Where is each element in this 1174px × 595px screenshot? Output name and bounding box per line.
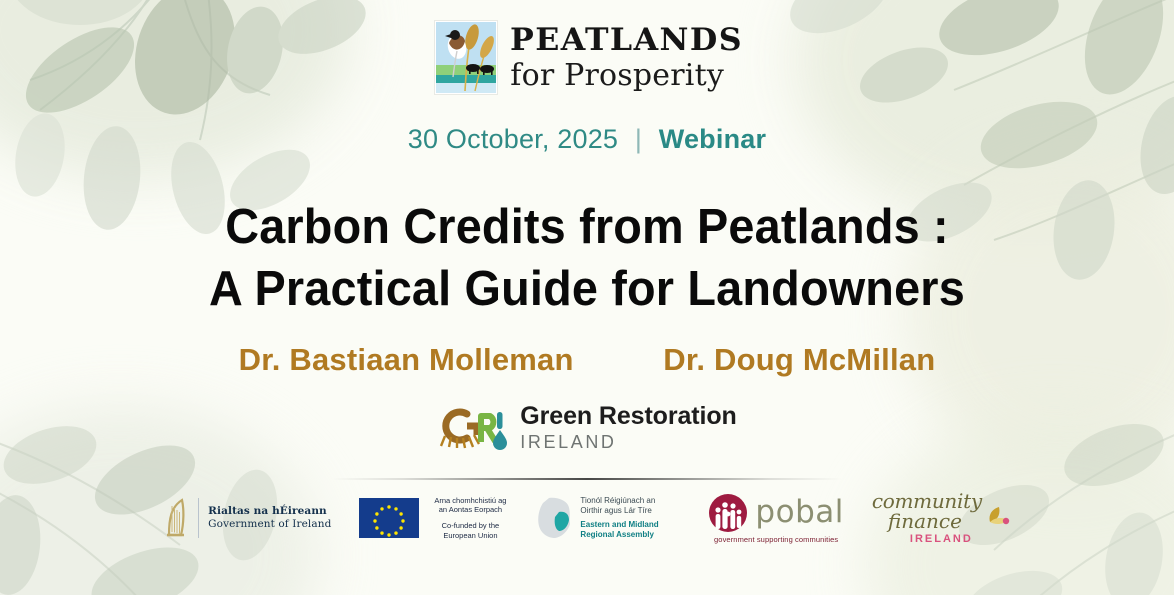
cfi-country: IRELAND (910, 533, 973, 545)
eu-english-line-2: European Union (443, 531, 497, 540)
organiser-country: IRELAND (520, 433, 736, 451)
page-title: Carbon Credits from Peatlands : A Practi… (0, 197, 1174, 320)
pobal-people-icon (708, 493, 748, 533)
eu-irish-line-2: an Aontas Eorpach (439, 505, 502, 514)
section-divider (332, 478, 842, 480)
emra-english-line-2: Regional Assembly (580, 530, 654, 539)
event-dateline: 30 October, 2025 | Webinar (0, 124, 1174, 155)
eu-flag-icon (359, 498, 419, 538)
peatlands-bird-reeds-logo (435, 21, 497, 94)
gov-divider (198, 498, 199, 538)
title-line-1: Carbon Credits from Peatlands : (26, 197, 1147, 259)
webinar-title-slide: PEATLANDS for Prosperity 30 October, 202… (0, 0, 1174, 595)
title-line-2: A Practical Guide for Landowners (26, 259, 1147, 321)
event-date: 30 October, 2025 (408, 124, 618, 154)
cfi-word-community: community (872, 492, 982, 511)
eu-english: Co-funded by the European Union (427, 521, 513, 541)
gov-wordmark: Rialtas na hÉireann Government of Irelan… (208, 505, 331, 530)
organiser-wordmark: Green Restoration IRELAND (520, 404, 736, 451)
funder-government-of-ireland: Rialtas na hÉireann Government of Irelan… (163, 488, 345, 548)
eu-wordmark: Arna chomhchistiú ag an Aontas Eorpach C… (427, 496, 513, 541)
funder-pobal: pobal government supporting communities (696, 488, 857, 548)
emra-irish-line-1: Tionól Réigiúnach an (580, 496, 655, 505)
emra-english-line-1: Eastern and Midland (580, 520, 658, 529)
pobal-lockup: pobal (708, 493, 843, 533)
gri-monogram-logo (437, 402, 509, 452)
funder-logo-row: Rialtas na hÉireann Government of Irelan… (0, 487, 1174, 549)
speaker-list: Dr. Bastiaan Molleman Dr. Doug McMillan (0, 342, 1174, 378)
ireland-map-icon (535, 495, 575, 541)
eu-irish: Arna chomhchistiú ag an Aontas Eorpach (427, 496, 513, 516)
organiser-logo: Green Restoration IRELAND (0, 402, 1174, 452)
peatlands-wordmark: PEATLANDS for Prosperity (510, 25, 738, 91)
gov-irish-name: Rialtas na hÉireann (208, 505, 331, 518)
emra-irish: Tionól Réigiúnach an Oirthir agus Lár Tí… (580, 496, 684, 516)
cfi-wordmark: community finance (872, 492, 982, 531)
pobal-tagline: government supporting communities (714, 535, 838, 544)
peatlands-title: PEATLANDS (510, 25, 743, 56)
emra-english: Eastern and Midland Regional Assembly (580, 520, 684, 540)
cfi-leaf-icon (985, 505, 1011, 531)
funder-community-finance-ireland: community finance IRELAND (858, 488, 1011, 548)
funder-european-union: Arna chomhchistiú ag an Aontas Eorpach C… (345, 488, 525, 548)
cfi-word-finance: finance (888, 512, 962, 531)
eu-irish-line-1: Arna chomhchistiú ag (434, 496, 506, 505)
gov-english-name: Government of Ireland (208, 518, 331, 531)
peatlands-subtitle: for Prosperity (510, 61, 738, 91)
dateline-separator: | (635, 124, 642, 154)
funder-eastern-midland-regional-assembly: Tionól Réigiúnach an Oirthir agus Lár Tí… (525, 488, 696, 548)
emra-irish-line-2: Oirthir agus Lár Tíre (580, 506, 651, 515)
organiser-name: Green Restoration (520, 404, 736, 429)
pobal-wordmark: pobal (755, 497, 843, 528)
emra-wordmark: Tionól Réigiúnach an Oirthir agus Lár Tí… (580, 496, 684, 540)
event-type: Webinar (659, 124, 766, 154)
speaker-name-1: Dr. Bastiaan Molleman (239, 342, 574, 377)
eu-english-line-1: Co-funded by the (442, 521, 500, 530)
cfi-lockup: community finance (872, 492, 1011, 531)
irish-harp-icon (163, 497, 189, 539)
peatlands-brand-lockup: PEATLANDS for Prosperity (0, 21, 1174, 94)
speaker-name-2: Dr. Doug McMillan (663, 342, 935, 377)
